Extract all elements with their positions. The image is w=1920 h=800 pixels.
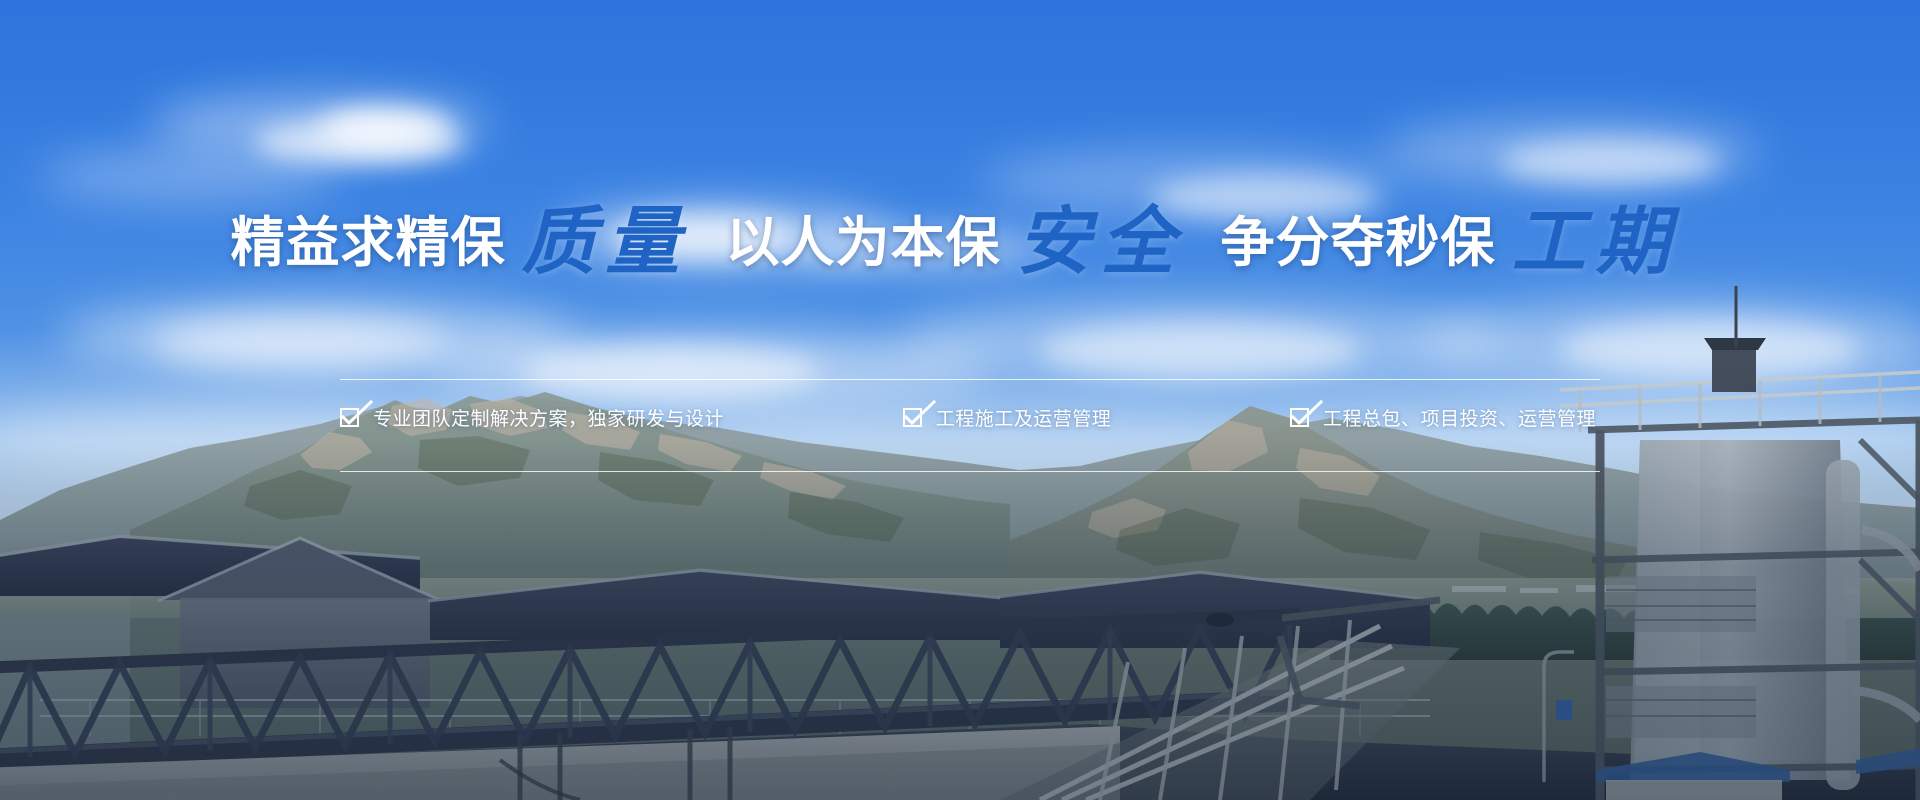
headline-accent-1: 质量: [522, 202, 690, 284]
banner-content: 精益求精保质量以人为本保安全争分夺秒保工期 专业团队定制解决方案，独家研发与设计: [0, 0, 1920, 800]
headline-plain-3: 争分夺秒保: [1221, 213, 1496, 273]
divider-bottom: [340, 471, 1600, 472]
headline-accent-3: 工期: [1512, 202, 1680, 284]
feature-label-2: 工程施工及运营管理: [936, 404, 1112, 431]
feature-label-1: 专业团队定制解决方案，独家研发与设计: [373, 404, 724, 431]
headline-plain-1: 精益求精保: [231, 213, 506, 273]
headline-accent-2: 安全: [1017, 202, 1185, 284]
checkbox-checked-icon: [340, 408, 359, 427]
feature-list: 专业团队定制解决方案，独家研发与设计 工程施工及运营管理 工程总包、项目投资、运…: [340, 404, 1600, 431]
feature-item-3[interactable]: 工程总包、项目投资、运营管理: [1290, 404, 1596, 431]
headline-plain-2: 以人为本保: [726, 213, 1001, 273]
feature-item-2[interactable]: 工程施工及运营管理: [903, 404, 1112, 431]
checkbox-checked-icon: [1290, 408, 1309, 427]
hero-banner: 精益求精保质量以人为本保安全争分夺秒保工期 专业团队定制解决方案，独家研发与设计: [0, 0, 1920, 800]
divider-top: [340, 379, 1600, 380]
feature-label-3: 工程总包、项目投资、运营管理: [1323, 404, 1596, 431]
checkbox-checked-icon: [903, 408, 922, 427]
feature-item-1[interactable]: 专业团队定制解决方案，独家研发与设计: [340, 404, 724, 431]
page-title: 精益求精保质量以人为本保安全争分夺秒保工期: [0, 206, 1920, 280]
